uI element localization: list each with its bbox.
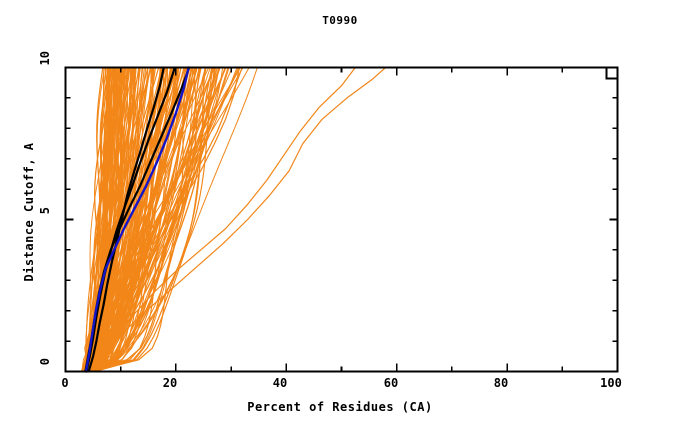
plot-canvas <box>0 0 680 440</box>
ensemble-curves <box>81 68 257 372</box>
chart-figure: T0990 Percent of Residues (CA) Distance … <box>0 0 680 440</box>
